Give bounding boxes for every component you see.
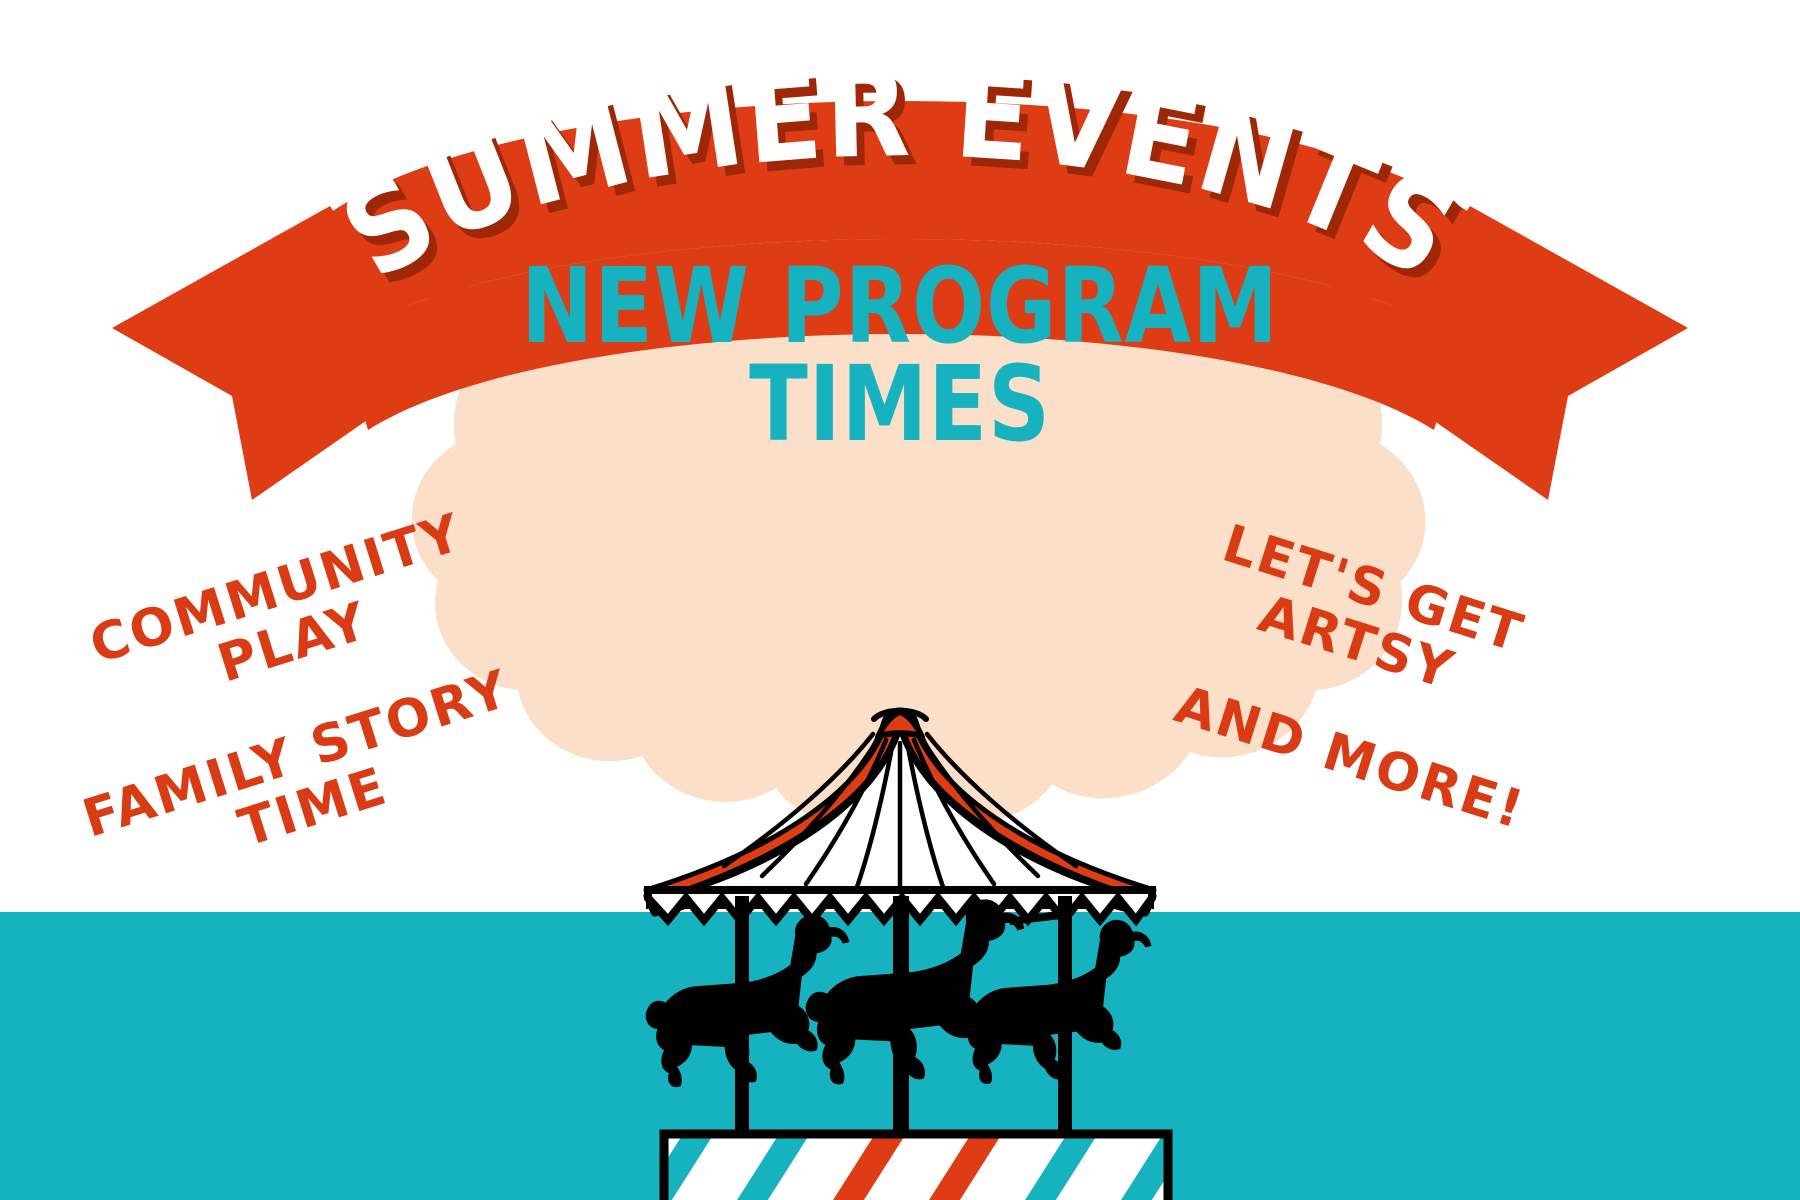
poster-canvas: SUMMER EVENTS SUMMER EVENTS NEW PROGRAM … [0,0,1800,1200]
carousel-base [640,1122,1234,1200]
carousel-canopy [646,711,1154,920]
